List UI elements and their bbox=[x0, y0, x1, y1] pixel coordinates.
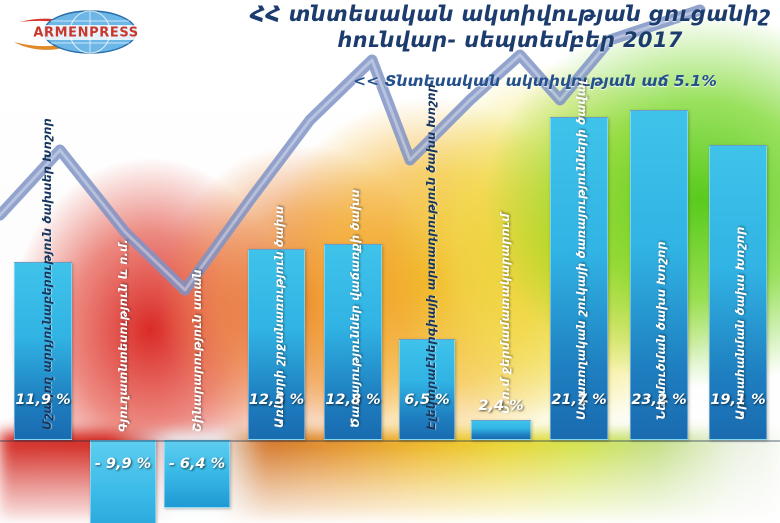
bar-label-8: Սպառողական շուկայի ծառայությունների ծավա… bbox=[574, 80, 588, 420]
bar-label-10: Արտահանման ծախս Խոշոր bbox=[733, 226, 747, 420]
bar-label-3: Շինարարություն ստան bbox=[190, 269, 204, 432]
infographic-root: ARMENPRESS ՀՀ տնտեսական ակտիվության ցուց… bbox=[0, 0, 780, 523]
bar-value-6: 6,5 % bbox=[393, 392, 461, 408]
bar-3[interactable] bbox=[164, 440, 230, 508]
zero-baseline bbox=[0, 440, 780, 442]
bar-value-1: 11,9 % bbox=[8, 392, 78, 408]
bar-2[interactable] bbox=[90, 440, 156, 523]
bar-label-6: Էլեկտրաէներգիայի արտադրություն ծախս Խոշո… bbox=[424, 84, 438, 430]
bar-value-7: 2,4 % bbox=[465, 398, 537, 414]
bar-value-3: - 6,4 % bbox=[158, 456, 236, 472]
bar-label-7: Մ.ո.մ ջերմամատակարարում bbox=[498, 213, 512, 414]
bar-value-4: 12,5 % bbox=[242, 392, 311, 408]
bar-value-5: 12,8 % bbox=[318, 392, 388, 408]
bar-value-9: 23,2 % bbox=[624, 392, 694, 408]
bar-value-10: 19,1 % bbox=[703, 392, 773, 408]
bar-7[interactable] bbox=[471, 420, 531, 440]
bar-label-1: Մշակող արդյունաբերություն ծախսեր Խոշոր bbox=[40, 118, 54, 430]
bar-value-2: - 9,9 % bbox=[84, 456, 162, 472]
bar-chart-plot: Մշակող արդյունաբերություն ծախսեր Խոշոր11… bbox=[0, 0, 780, 523]
bar-value-8: 21,7 % bbox=[544, 392, 614, 408]
bar-label-2: Գյուղատնտեսություն և ո.մ. bbox=[116, 239, 130, 432]
